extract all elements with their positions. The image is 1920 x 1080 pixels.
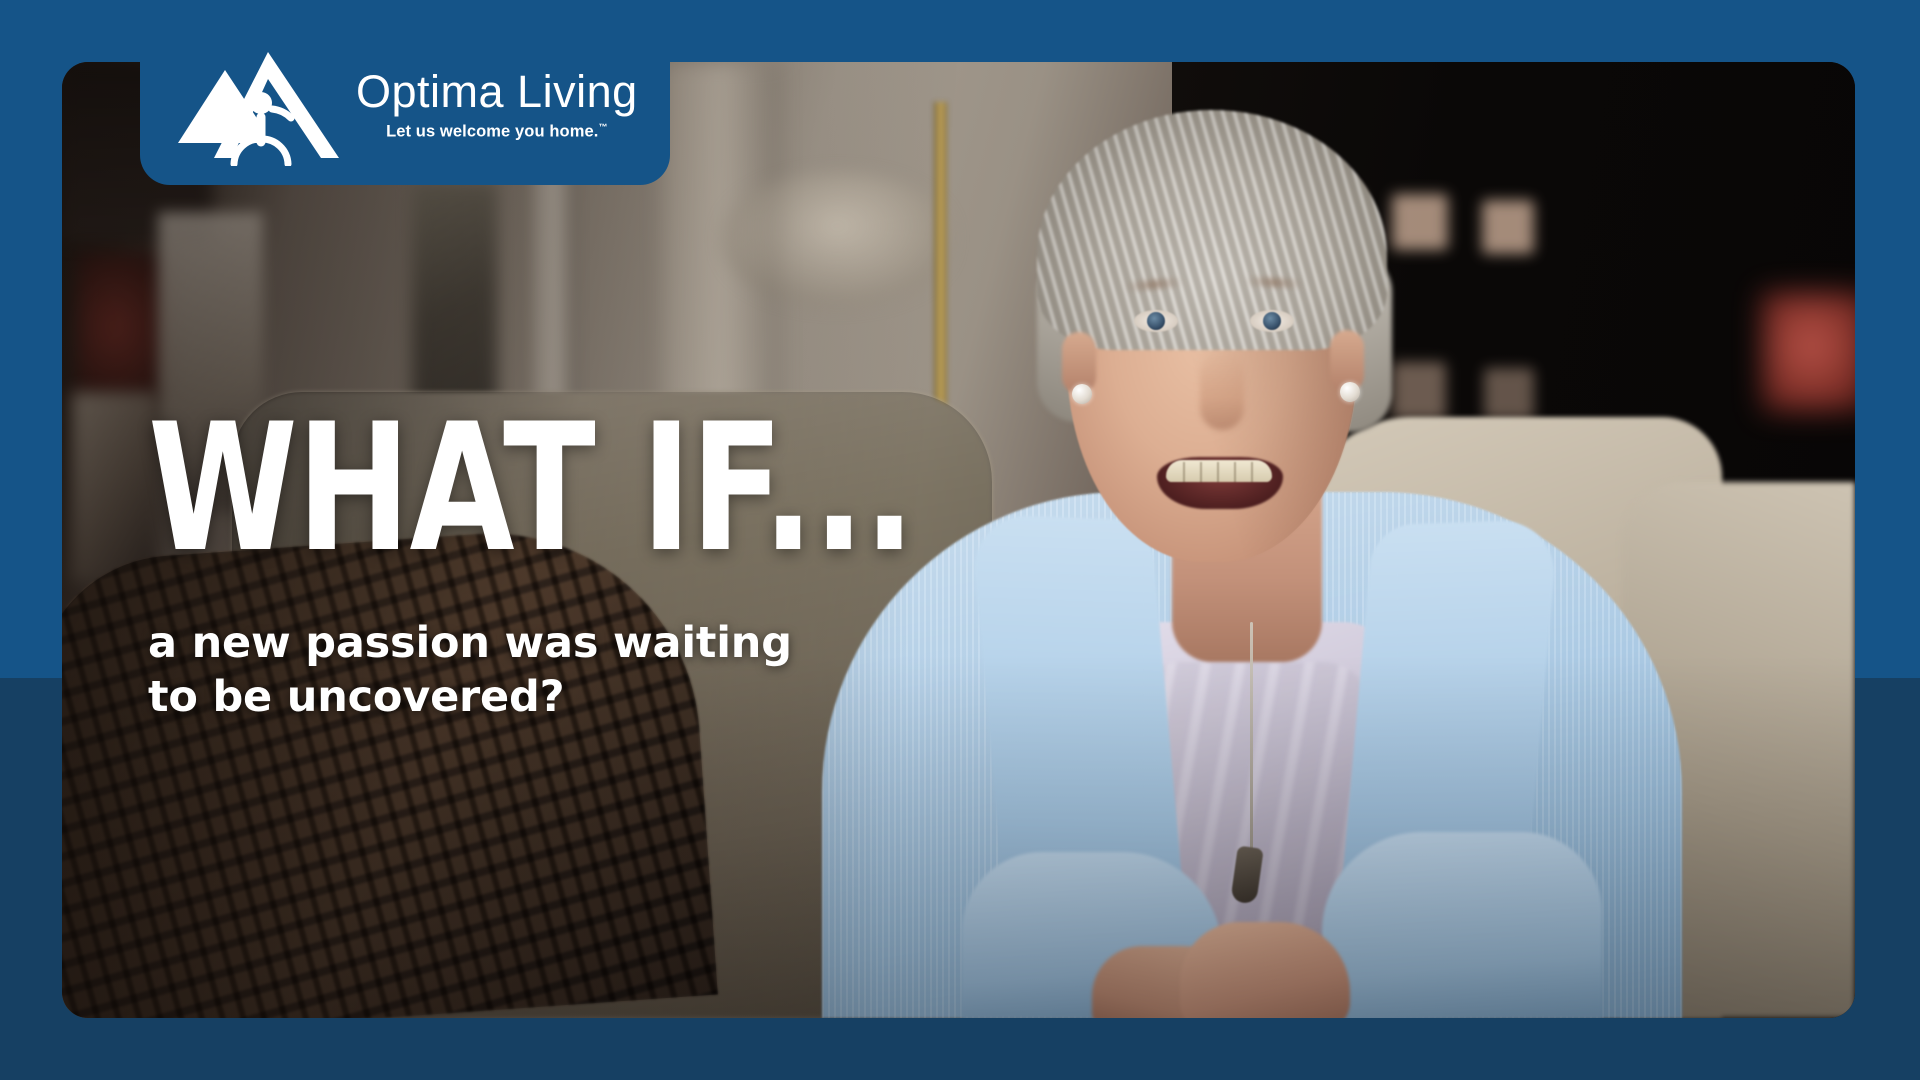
photo-red-decor [1762,292,1855,412]
page-subheadline: a new passion was waiting to be uncovere… [148,617,1028,725]
brand-wordmark: Optima Living Let us welcome you home.™ [356,69,638,141]
photo-pearl-earring-right [1340,382,1360,402]
photo-teeth-line [1200,462,1202,482]
brand-name: Optima Living [356,69,638,115]
photo-shelf-square [1392,362,1446,420]
photo-shelf-square [1482,200,1534,254]
photo-lamp-shade [722,172,952,307]
brand-tagline-text: Let us welcome you home. [386,123,598,141]
photo-teeth-line [1234,462,1236,482]
photo-teeth [1166,460,1272,482]
photo-iris-left [1147,312,1165,330]
photo-pearl-earring-left [1072,384,1092,404]
photo-books [72,392,157,582]
photo-iris-right [1263,312,1281,330]
subheadline-line-2: to be uncovered? [148,671,1028,725]
subheadline-line-1: a new passion was waiting [148,617,1028,671]
photo-teeth-line [1217,462,1219,482]
page-headline: WHAT IF... [148,418,1002,563]
brand-tagline: Let us welcome you home.™ [386,122,607,142]
trademark-symbol: ™ [598,122,607,132]
hero-text-block: WHAT IF... a new passion was waiting to … [148,418,1028,724]
photo-shelf-square [1392,194,1448,250]
photo-necklace-chain [1250,622,1253,852]
photo-nose [1200,352,1244,430]
brand-logo-badge[interactable]: Optima Living Let us welcome you home.™ [140,30,670,185]
photo-sleeve-right [1322,832,1602,1018]
mountain-with-person-icon [170,46,340,166]
photo-teeth-line [1251,462,1253,482]
photo-teeth-line [1183,462,1185,482]
photo-shelf-square [1484,368,1534,420]
